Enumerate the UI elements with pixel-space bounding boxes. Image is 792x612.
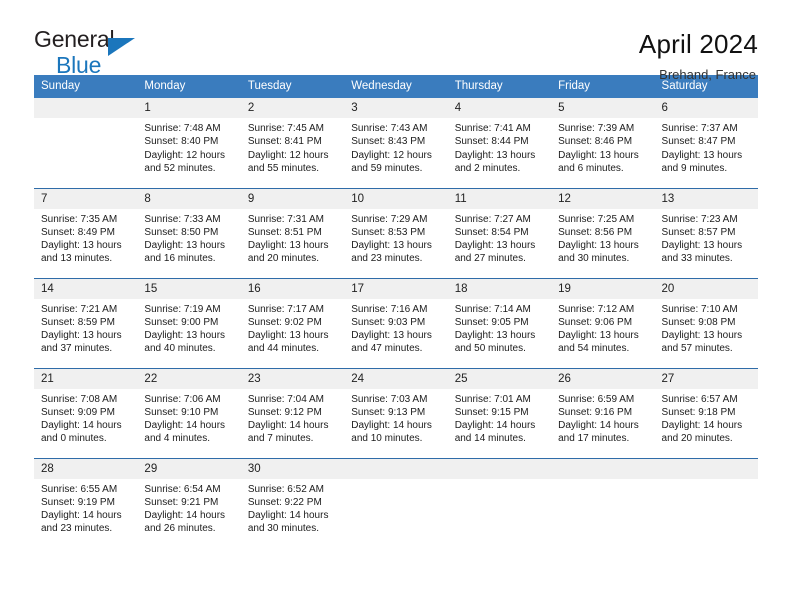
- week-row: 21 Sunrise: 7:08 AM Sunset: 9:09 PM Dayl…: [34, 368, 758, 458]
- sunrise-text: Sunrise: 7:23 AM: [662, 213, 752, 226]
- daylight-text-line1: Daylight: 13 hours: [662, 239, 752, 252]
- day-cell[interactable]: 7 Sunrise: 7:35 AM Sunset: 8:49 PM Dayli…: [34, 188, 137, 278]
- sunrise-text: Sunrise: 7:04 AM: [248, 393, 338, 406]
- calendar-table: Sunday Monday Tuesday Wednesday Thursday…: [34, 75, 758, 548]
- daylight-text-line2: and 20 minutes.: [248, 252, 338, 265]
- day-cell[interactable]: 24 Sunrise: 7:03 AM Sunset: 9:13 PM Dayl…: [344, 368, 447, 458]
- daylight-text-line2: and 2 minutes.: [455, 162, 545, 175]
- day-details: Sunrise: 6:52 AM Sunset: 9:22 PM Dayligh…: [241, 479, 344, 536]
- day-details: Sunrise: 7:19 AM Sunset: 9:00 PM Dayligh…: [137, 299, 240, 356]
- day-cell[interactable]: 20 Sunrise: 7:10 AM Sunset: 9:08 PM Dayl…: [655, 278, 758, 368]
- day-cell[interactable]: 29 Sunrise: 6:54 AM Sunset: 9:21 PM Dayl…: [137, 458, 240, 548]
- day-cell[interactable]: 5 Sunrise: 7:39 AM Sunset: 8:46 PM Dayli…: [551, 98, 654, 188]
- day-details: Sunrise: 7:35 AM Sunset: 8:49 PM Dayligh…: [34, 209, 137, 266]
- day-number: 18: [448, 279, 551, 299]
- sunrise-text: Sunrise: 7:21 AM: [41, 303, 131, 316]
- day-cell[interactable]: 27 Sunrise: 6:57 AM Sunset: 9:18 PM Dayl…: [655, 368, 758, 458]
- day-details: Sunrise: 7:23 AM Sunset: 8:57 PM Dayligh…: [655, 209, 758, 266]
- sunset-text: Sunset: 8:51 PM: [248, 226, 338, 239]
- day-number: 28: [34, 459, 137, 479]
- weekday-header-thursday: Thursday: [448, 75, 551, 98]
- day-cell[interactable]: [34, 98, 137, 188]
- day-details: Sunrise: 6:59 AM Sunset: 9:16 PM Dayligh…: [551, 389, 654, 446]
- daylight-text-line1: Daylight: 14 hours: [144, 509, 234, 522]
- day-details: Sunrise: 7:17 AM Sunset: 9:02 PM Dayligh…: [241, 299, 344, 356]
- daylight-text-line1: Daylight: 13 hours: [662, 149, 752, 162]
- daylight-text-line2: and 52 minutes.: [144, 162, 234, 175]
- day-cell[interactable]: 13 Sunrise: 7:23 AM Sunset: 8:57 PM Dayl…: [655, 188, 758, 278]
- daylight-text-line2: and 26 minutes.: [144, 522, 234, 535]
- daylight-text-line2: and 23 minutes.: [41, 522, 131, 535]
- sunset-text: Sunset: 9:05 PM: [455, 316, 545, 329]
- daylight-text-line1: Daylight: 13 hours: [455, 239, 545, 252]
- daylight-text-line2: and 47 minutes.: [351, 342, 441, 355]
- daylight-text-line2: and 4 minutes.: [144, 432, 234, 445]
- daylight-text-line1: Daylight: 13 hours: [558, 149, 648, 162]
- day-number: 22: [137, 369, 240, 389]
- day-cell[interactable]: 21 Sunrise: 7:08 AM Sunset: 9:09 PM Dayl…: [34, 368, 137, 458]
- sunrise-text: Sunrise: 7:33 AM: [144, 213, 234, 226]
- day-cell-empty: [655, 458, 758, 548]
- day-cell[interactable]: 28 Sunrise: 6:55 AM Sunset: 9:19 PM Dayl…: [34, 458, 137, 548]
- sunrise-text: Sunrise: 7:29 AM: [351, 213, 441, 226]
- day-details: Sunrise: 7:12 AM Sunset: 9:06 PM Dayligh…: [551, 299, 654, 356]
- day-number: 5: [551, 98, 654, 118]
- sunset-text: Sunset: 8:43 PM: [351, 135, 441, 148]
- day-cell[interactable]: 26 Sunrise: 6:59 AM Sunset: 9:16 PM Dayl…: [551, 368, 654, 458]
- day-details: Sunrise: 7:04 AM Sunset: 9:12 PM Dayligh…: [241, 389, 344, 446]
- sunrise-text: Sunrise: 7:31 AM: [248, 213, 338, 226]
- sunrise-text: Sunrise: 7:19 AM: [144, 303, 234, 316]
- day-number: 16: [241, 279, 344, 299]
- day-number: [448, 459, 551, 479]
- day-number: 24: [344, 369, 447, 389]
- day-cell-empty: [344, 458, 447, 548]
- day-cell[interactable]: 15 Sunrise: 7:19 AM Sunset: 9:00 PM Dayl…: [137, 278, 240, 368]
- day-details: Sunrise: 7:41 AM Sunset: 8:44 PM Dayligh…: [448, 118, 551, 175]
- sunrise-text: Sunrise: 7:06 AM: [144, 393, 234, 406]
- day-number: 29: [137, 459, 240, 479]
- day-details: Sunrise: 6:55 AM Sunset: 9:19 PM Dayligh…: [34, 479, 137, 536]
- sunrise-text: Sunrise: 7:39 AM: [558, 122, 648, 135]
- day-cell[interactable]: 12 Sunrise: 7:25 AM Sunset: 8:56 PM Dayl…: [551, 188, 654, 278]
- triangle-logo-icon: [108, 38, 135, 56]
- sunrise-text: Sunrise: 6:55 AM: [41, 483, 131, 496]
- daylight-text-line1: Daylight: 14 hours: [455, 419, 545, 432]
- day-cell[interactable]: 14 Sunrise: 7:21 AM Sunset: 8:59 PM Dayl…: [34, 278, 137, 368]
- day-number: 10: [344, 189, 447, 209]
- sunrise-text: Sunrise: 7:14 AM: [455, 303, 545, 316]
- sunset-text: Sunset: 9:10 PM: [144, 406, 234, 419]
- daylight-text-line2: and 55 minutes.: [248, 162, 338, 175]
- day-details: Sunrise: 7:21 AM Sunset: 8:59 PM Dayligh…: [34, 299, 137, 356]
- sunrise-text: Sunrise: 7:45 AM: [248, 122, 338, 135]
- sunrise-text: Sunrise: 7:17 AM: [248, 303, 338, 316]
- day-cell-empty: [448, 458, 551, 548]
- daylight-text-line1: Daylight: 14 hours: [248, 419, 338, 432]
- daylight-text-line1: Daylight: 13 hours: [248, 239, 338, 252]
- sunset-text: Sunset: 9:00 PM: [144, 316, 234, 329]
- day-number: 12: [551, 189, 654, 209]
- weekday-header-wednesday: Wednesday: [344, 75, 447, 98]
- sunset-text: Sunset: 9:08 PM: [662, 316, 752, 329]
- daylight-text-line2: and 27 minutes.: [455, 252, 545, 265]
- sunset-text: Sunset: 8:44 PM: [455, 135, 545, 148]
- day-details: Sunrise: 7:03 AM Sunset: 9:13 PM Dayligh…: [344, 389, 447, 446]
- week-row: 1 Sunrise: 7:48 AM Sunset: 8:40 PM Dayli…: [34, 98, 758, 188]
- daylight-text-line1: Daylight: 13 hours: [558, 239, 648, 252]
- sunrise-text: Sunrise: 6:59 AM: [558, 393, 648, 406]
- sunrise-text: Sunrise: 6:54 AM: [144, 483, 234, 496]
- day-cell[interactable]: 18 Sunrise: 7:14 AM Sunset: 9:05 PM Dayl…: [448, 278, 551, 368]
- day-details: Sunrise: 7:01 AM Sunset: 9:15 PM Dayligh…: [448, 389, 551, 446]
- day-cell[interactable]: 1 Sunrise: 7:48 AM Sunset: 8:40 PM Dayli…: [137, 98, 240, 188]
- day-number: 13: [655, 189, 758, 209]
- daylight-text-line2: and 40 minutes.: [144, 342, 234, 355]
- daylight-text-line1: Daylight: 13 hours: [144, 329, 234, 342]
- day-details: Sunrise: 7:25 AM Sunset: 8:56 PM Dayligh…: [551, 209, 654, 266]
- daylight-text-line1: Daylight: 14 hours: [144, 419, 234, 432]
- sunset-text: Sunset: 9:16 PM: [558, 406, 648, 419]
- day-cell[interactable]: 17 Sunrise: 7:16 AM Sunset: 9:03 PM Dayl…: [344, 278, 447, 368]
- sunrise-text: Sunrise: 7:10 AM: [662, 303, 752, 316]
- weekday-header-tuesday: Tuesday: [241, 75, 344, 98]
- day-details: Sunrise: 7:27 AM Sunset: 8:54 PM Dayligh…: [448, 209, 551, 266]
- sunset-text: Sunset: 9:09 PM: [41, 406, 131, 419]
- daylight-text-line1: Daylight: 14 hours: [662, 419, 752, 432]
- day-number: 15: [137, 279, 240, 299]
- day-number: 23: [241, 369, 344, 389]
- day-details: Sunrise: 7:43 AM Sunset: 8:43 PM Dayligh…: [344, 118, 447, 175]
- day-details: Sunrise: 7:10 AM Sunset: 9:08 PM Dayligh…: [655, 299, 758, 356]
- daylight-text-line2: and 37 minutes.: [41, 342, 131, 355]
- sunrise-text: Sunrise: 7:43 AM: [351, 122, 441, 135]
- day-cell[interactable]: 9 Sunrise: 7:31 AM Sunset: 8:51 PM Dayli…: [241, 188, 344, 278]
- daylight-text-line1: Daylight: 13 hours: [351, 329, 441, 342]
- daylight-text-line2: and 30 minutes.: [248, 522, 338, 535]
- day-details: Sunrise: 7:06 AM Sunset: 9:10 PM Dayligh…: [137, 389, 240, 446]
- day-number: 1: [137, 98, 240, 118]
- sunrise-text: Sunrise: 7:27 AM: [455, 213, 545, 226]
- day-number: 2: [241, 98, 344, 118]
- daylight-text-line1: Daylight: 13 hours: [455, 329, 545, 342]
- sunrise-text: Sunrise: 6:52 AM: [248, 483, 338, 496]
- day-cell[interactable]: 19 Sunrise: 7:12 AM Sunset: 9:06 PM Dayl…: [551, 278, 654, 368]
- daylight-text-line1: Daylight: 12 hours: [144, 149, 234, 162]
- daylight-text-line2: and 9 minutes.: [662, 162, 752, 175]
- day-number: 11: [448, 189, 551, 209]
- day-details: Sunrise: 7:14 AM Sunset: 9:05 PM Dayligh…: [448, 299, 551, 356]
- daylight-text-line1: Daylight: 13 hours: [662, 329, 752, 342]
- day-number: 14: [34, 279, 137, 299]
- sunset-text: Sunset: 9:21 PM: [144, 496, 234, 509]
- sunset-text: Sunset: 8:50 PM: [144, 226, 234, 239]
- sunset-text: Sunset: 8:56 PM: [558, 226, 648, 239]
- day-cell[interactable]: 8 Sunrise: 7:33 AM Sunset: 8:50 PM Dayli…: [137, 188, 240, 278]
- daylight-text-line2: and 14 minutes.: [455, 432, 545, 445]
- daylight-text-line2: and 13 minutes.: [41, 252, 131, 265]
- daylight-text-line2: and 0 minutes.: [41, 432, 131, 445]
- day-details: Sunrise: 7:08 AM Sunset: 9:09 PM Dayligh…: [34, 389, 137, 446]
- daylight-text-line2: and 7 minutes.: [248, 432, 338, 445]
- daylight-text-line2: and 54 minutes.: [558, 342, 648, 355]
- daylight-text-line1: Daylight: 14 hours: [248, 509, 338, 522]
- daylight-text-line1: Daylight: 13 hours: [351, 239, 441, 252]
- sunrise-text: Sunrise: 7:01 AM: [455, 393, 545, 406]
- daylight-text-line1: Daylight: 13 hours: [558, 329, 648, 342]
- daylight-text-line1: Daylight: 13 hours: [455, 149, 545, 162]
- daylight-text-line2: and 20 minutes.: [662, 432, 752, 445]
- day-details: Sunrise: 7:16 AM Sunset: 9:03 PM Dayligh…: [344, 299, 447, 356]
- day-number: [655, 459, 758, 479]
- daylight-text-line2: and 59 minutes.: [351, 162, 441, 175]
- page-header: General Blue April 2024 Brehand, France: [0, 0, 792, 75]
- daylight-text-line2: and 10 minutes.: [351, 432, 441, 445]
- day-number: 8: [137, 189, 240, 209]
- day-cell[interactable]: 30 Sunrise: 6:52 AM Sunset: 9:22 PM Dayl…: [241, 458, 344, 548]
- daylight-text-line2: and 33 minutes.: [662, 252, 752, 265]
- daylight-text-line2: and 44 minutes.: [248, 342, 338, 355]
- daylight-text-line2: and 16 minutes.: [144, 252, 234, 265]
- sunset-text: Sunset: 9:22 PM: [248, 496, 338, 509]
- day-number: 4: [448, 98, 551, 118]
- day-number: [551, 459, 654, 479]
- sunrise-text: Sunrise: 7:12 AM: [558, 303, 648, 316]
- day-details: Sunrise: 6:54 AM Sunset: 9:21 PM Dayligh…: [137, 479, 240, 536]
- day-cell[interactable]: 16 Sunrise: 7:17 AM Sunset: 9:02 PM Dayl…: [241, 278, 344, 368]
- sunset-text: Sunset: 9:06 PM: [558, 316, 648, 329]
- daylight-text-line1: Daylight: 14 hours: [558, 419, 648, 432]
- day-details: Sunrise: 7:33 AM Sunset: 8:50 PM Dayligh…: [137, 209, 240, 266]
- day-details: Sunrise: 7:31 AM Sunset: 8:51 PM Dayligh…: [241, 209, 344, 266]
- daylight-text-line1: Daylight: 13 hours: [144, 239, 234, 252]
- daylight-text-line1: Daylight: 12 hours: [248, 149, 338, 162]
- day-number: 9: [241, 189, 344, 209]
- sunrise-text: Sunrise: 7:48 AM: [144, 122, 234, 135]
- day-details: Sunrise: 7:39 AM Sunset: 8:46 PM Dayligh…: [551, 118, 654, 175]
- sunrise-text: Sunrise: 6:57 AM: [662, 393, 752, 406]
- day-number: 30: [241, 459, 344, 479]
- logo-text-blue: Blue: [56, 54, 154, 77]
- day-number: 7: [34, 189, 137, 209]
- daylight-text-line2: and 57 minutes.: [662, 342, 752, 355]
- title-block: April 2024 Brehand, France: [639, 28, 758, 82]
- day-number: [34, 98, 137, 118]
- sunrise-text: Sunrise: 7:35 AM: [41, 213, 131, 226]
- day-cell[interactable]: 22 Sunrise: 7:06 AM Sunset: 9:10 PM Dayl…: [137, 368, 240, 458]
- sunrise-text: Sunrise: 7:37 AM: [662, 122, 752, 135]
- sunset-text: Sunset: 9:19 PM: [41, 496, 131, 509]
- sunset-text: Sunset: 8:57 PM: [662, 226, 752, 239]
- page-title: April 2024: [639, 30, 758, 60]
- daylight-text-line2: and 6 minutes.: [558, 162, 648, 175]
- day-number: 19: [551, 279, 654, 299]
- daylight-text-line1: Daylight: 14 hours: [41, 419, 131, 432]
- day-cell[interactable]: 25 Sunrise: 7:01 AM Sunset: 9:15 PM Dayl…: [448, 368, 551, 458]
- sunset-text: Sunset: 8:53 PM: [351, 226, 441, 239]
- calendar-body: 1 Sunrise: 7:48 AM Sunset: 8:40 PM Dayli…: [34, 98, 758, 548]
- daylight-text-line2: and 30 minutes.: [558, 252, 648, 265]
- sunset-text: Sunset: 8:54 PM: [455, 226, 545, 239]
- sunset-text: Sunset: 8:46 PM: [558, 135, 648, 148]
- sunset-text: Sunset: 9:02 PM: [248, 316, 338, 329]
- sunrise-text: Sunrise: 7:03 AM: [351, 393, 441, 406]
- calendar-page: General Blue April 2024 Brehand, France …: [0, 0, 792, 612]
- logo-text-general: General: [34, 28, 154, 53]
- day-number: 17: [344, 279, 447, 299]
- day-details: Sunrise: 7:48 AM Sunset: 8:40 PM Dayligh…: [137, 118, 240, 175]
- general-blue-logo[interactable]: General Blue: [34, 28, 154, 80]
- day-number: 6: [655, 98, 758, 118]
- sunrise-text: Sunrise: 7:16 AM: [351, 303, 441, 316]
- day-cell[interactable]: 2 Sunrise: 7:45 AM Sunset: 8:41 PM Dayli…: [241, 98, 344, 188]
- daylight-text-line1: Daylight: 14 hours: [351, 419, 441, 432]
- day-number: 3: [344, 98, 447, 118]
- day-number: 25: [448, 369, 551, 389]
- sunset-text: Sunset: 8:47 PM: [662, 135, 752, 148]
- daylight-text-line2: and 23 minutes.: [351, 252, 441, 265]
- day-details: [34, 118, 137, 122]
- sunset-text: Sunset: 9:03 PM: [351, 316, 441, 329]
- day-cell[interactable]: 4 Sunrise: 7:41 AM Sunset: 8:44 PM Dayli…: [448, 98, 551, 188]
- sunset-text: Sunset: 8:40 PM: [144, 135, 234, 148]
- sunrise-text: Sunrise: 7:08 AM: [41, 393, 131, 406]
- day-number: 20: [655, 279, 758, 299]
- day-cell[interactable]: 23 Sunrise: 7:04 AM Sunset: 9:12 PM Dayl…: [241, 368, 344, 458]
- daylight-text-line2: and 17 minutes.: [558, 432, 648, 445]
- week-row: 28 Sunrise: 6:55 AM Sunset: 9:19 PM Dayl…: [34, 458, 758, 548]
- sunset-text: Sunset: 9:13 PM: [351, 406, 441, 419]
- day-number: [344, 459, 447, 479]
- day-details: Sunrise: 6:57 AM Sunset: 9:18 PM Dayligh…: [655, 389, 758, 446]
- day-cell[interactable]: 11 Sunrise: 7:27 AM Sunset: 8:54 PM Dayl…: [448, 188, 551, 278]
- day-cell[interactable]: 10 Sunrise: 7:29 AM Sunset: 8:53 PM Dayl…: [344, 188, 447, 278]
- week-row: 7 Sunrise: 7:35 AM Sunset: 8:49 PM Dayli…: [34, 188, 758, 278]
- sunset-text: Sunset: 9:12 PM: [248, 406, 338, 419]
- sunset-text: Sunset: 8:41 PM: [248, 135, 338, 148]
- week-row: 14 Sunrise: 7:21 AM Sunset: 8:59 PM Dayl…: [34, 278, 758, 368]
- sunset-text: Sunset: 8:49 PM: [41, 226, 131, 239]
- sunrise-text: Sunrise: 7:41 AM: [455, 122, 545, 135]
- daylight-text-line1: Daylight: 13 hours: [248, 329, 338, 342]
- day-details: Sunrise: 7:29 AM Sunset: 8:53 PM Dayligh…: [344, 209, 447, 266]
- daylight-text-line1: Daylight: 13 hours: [41, 329, 131, 342]
- daylight-text-line1: Daylight: 13 hours: [41, 239, 131, 252]
- sunset-text: Sunset: 9:15 PM: [455, 406, 545, 419]
- day-details: Sunrise: 7:45 AM Sunset: 8:41 PM Dayligh…: [241, 118, 344, 175]
- sunset-text: Sunset: 9:18 PM: [662, 406, 752, 419]
- daylight-text-line1: Daylight: 12 hours: [351, 149, 441, 162]
- day-cell-empty: [551, 458, 654, 548]
- daylight-text-line2: and 50 minutes.: [455, 342, 545, 355]
- day-cell[interactable]: 6 Sunrise: 7:37 AM Sunset: 8:47 PM Dayli…: [655, 98, 758, 188]
- day-details: Sunrise: 7:37 AM Sunset: 8:47 PM Dayligh…: [655, 118, 758, 175]
- day-number: 21: [34, 369, 137, 389]
- day-number: 27: [655, 369, 758, 389]
- day-number: 26: [551, 369, 654, 389]
- sunrise-text: Sunrise: 7:25 AM: [558, 213, 648, 226]
- day-cell[interactable]: 3 Sunrise: 7:43 AM Sunset: 8:43 PM Dayli…: [344, 98, 447, 188]
- sunset-text: Sunset: 8:59 PM: [41, 316, 131, 329]
- daylight-text-line1: Daylight: 14 hours: [41, 509, 131, 522]
